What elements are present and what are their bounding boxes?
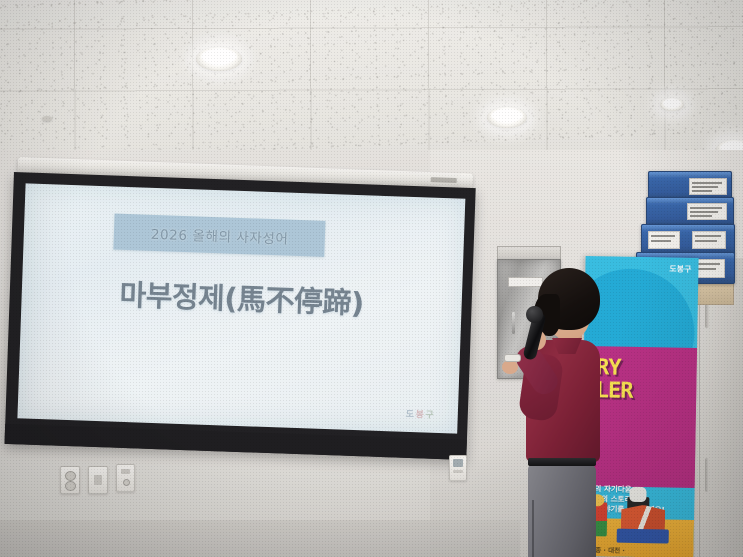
floor-edge: [0, 520, 520, 557]
presenter-trousers: [528, 464, 596, 557]
presenter-belt: [528, 458, 596, 466]
ceiling-downlight: [660, 98, 684, 111]
presentation-slide: 2026 올해의 사자성어 마부정제(馬不停蹄) 도 봉 구: [17, 183, 465, 433]
lego-brick-blue: [617, 529, 669, 544]
banner-dobong-logo: 도봉구: [669, 264, 691, 275]
presenter-hand-left: [502, 360, 518, 374]
lego-book-icon: [621, 505, 665, 532]
logo-char-2: 봉: [415, 407, 424, 420]
presenter-leg-seam: [532, 500, 534, 557]
microphone-head-icon: [526, 306, 543, 323]
ceiling-downlight: [487, 107, 527, 128]
ceiling-downlight: [196, 47, 242, 71]
crate-label: [648, 231, 680, 249]
wall-control-panel[interactable]: [449, 455, 467, 481]
lego-head-white: [629, 487, 646, 502]
crate-label: [687, 203, 727, 220]
dobong-gu-logo: 도 봉 구: [406, 407, 434, 421]
storage-crate: [646, 197, 734, 227]
slide-main-heading: 마부정제(馬不停蹄): [21, 268, 462, 325]
crate-label: [692, 231, 726, 249]
logo-char-1: 도: [406, 407, 415, 420]
projector-screen: 2026 올해의 사자성어 마부정제(馬不停蹄) 도 봉 구: [5, 172, 476, 460]
slide-band-text: 2026 올해의 사자성어: [151, 223, 289, 248]
screen-surface: 2026 올해의 사자성어 마부정제(馬不停蹄) 도 봉 구: [17, 183, 465, 433]
logo-char-3: 구: [425, 408, 434, 421]
storage-crate: [641, 224, 735, 255]
crate-label: [689, 178, 727, 195]
presenter: [500, 268, 612, 557]
photo-scene: 2026 올해의 사자성어 마부정제(馬不停蹄) 도 봉 구: [0, 0, 743, 557]
av-jack-plate: [116, 464, 135, 492]
light-switch[interactable]: [88, 466, 108, 494]
slide-title-band: 2026 올해의 사자성어: [114, 214, 326, 258]
casing-brand-label: [431, 177, 457, 183]
smoke-detector-icon: [42, 116, 52, 121]
cabinet-handle[interactable]: [705, 458, 709, 492]
presenter-wristwatch: [504, 354, 521, 362]
duplex-outlet: [60, 466, 80, 494]
